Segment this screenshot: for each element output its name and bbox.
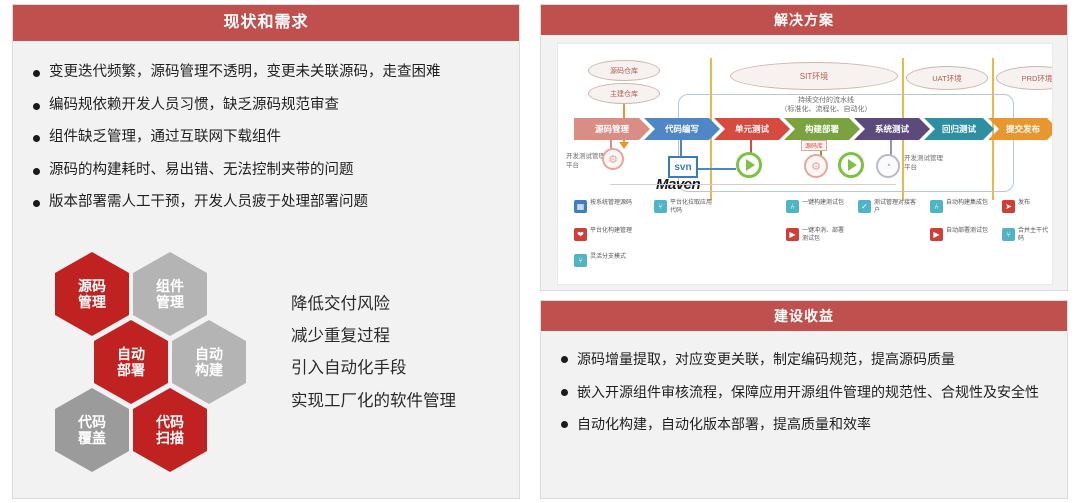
hexagon-auto-deploy: 自动 部署	[94, 320, 168, 404]
bullet-dot-icon	[561, 389, 568, 396]
svn-logo-icon: svn	[668, 156, 698, 178]
ellipse-sit-environment: SIT环境	[730, 62, 898, 90]
gear-icon-build: ⚙	[804, 154, 828, 178]
legend-label: 一键冲消、部署测试包	[802, 228, 846, 244]
cicd-pipeline-diagram: 源码仓库 主建仓库 SIT环境 UAT环境 PRD环境 持续交付的流水线 （标准…	[557, 43, 1053, 285]
stage-system-test[interactable]: 系统测试	[854, 118, 930, 140]
list-item: 组件缺乏管理，通过互联网下载组件	[29, 128, 501, 148]
bullet-text: 自动化构建，自动化版本部署，提高质量和效率	[577, 414, 871, 436]
hexagon-code-coverage: 代码 覆盖	[55, 388, 129, 472]
package-icon: ⑃	[786, 200, 799, 213]
hexagon-label-line2: 扫描	[156, 430, 184, 446]
hexagon-code-scan: 代码 扫描	[133, 388, 207, 472]
legend-item: ⑂ 合并主干代码	[1002, 228, 1052, 244]
legend-item: ⑂ 平台化拉取应用代码	[654, 200, 714, 216]
bullet-text: 变更迭代频繁，源码管理不透明，变更未关联源码，走查困难	[49, 63, 441, 83]
legend-label: 自动构建集成包	[946, 200, 988, 208]
bullet-dot-icon	[33, 168, 40, 175]
legend-label: 自动部署测试包	[946, 228, 988, 236]
hexagon-label-line2: 管理	[156, 294, 184, 310]
bullet-text: 源码的构建耗时、易出错、无法控制夹带的问题	[49, 161, 354, 181]
capability-hexagon-cluster: 源码 管理 组件 管理 自动 部署 自动 构建 代码 覆盖 代码 扫描	[33, 248, 283, 493]
play-button-build-deploy-icon	[838, 152, 864, 178]
legend-item: ⑃ 自动构建集成包	[930, 200, 988, 213]
legend-label: 发布	[1018, 200, 1030, 208]
hexagon-label-line1: 代码	[156, 414, 184, 430]
legend-item: ➤ 发布	[1002, 200, 1030, 213]
hexagon-label-line2: 构建	[195, 362, 223, 378]
ellipse-build-repository: 主建仓库	[588, 83, 660, 104]
play-icon: ▶	[930, 228, 943, 241]
legend-item: ✓ 测试管理对接客户	[858, 200, 918, 216]
list-item: 源码的构建耗时、易出错、无法控制夹带的问题	[29, 161, 501, 181]
play-button-unit-test-icon	[736, 152, 762, 178]
legend-label: 灵活分支模式	[590, 254, 626, 262]
list-item: 编码规依赖开发人员习惯，缺乏源码规范审查	[29, 96, 501, 116]
branch-icon: ⑂	[1002, 228, 1015, 241]
play-triangle-icon	[746, 159, 755, 171]
legend-item: ⑃ 一键构建测试包	[786, 200, 844, 213]
bullet-text: 版本部署需人工干预，开发人员疲于处理部署问题	[49, 193, 368, 213]
gear-icon: ⚙	[602, 148, 624, 170]
list-item: 源码增量提取，对应变更关联，制定编码规范，提高源码质量	[557, 349, 1045, 371]
ellipse-prd-environment: PRD环境	[996, 66, 1053, 90]
benefit-bullet-list: 源码增量提取，对应变更关联，制定编码规范，提高源码质量 嵌入开源组件审核流程，保…	[541, 331, 1067, 436]
hexagon-label-line2: 覆盖	[78, 430, 106, 446]
hexagon-label-line2: 管理	[78, 294, 106, 310]
panel-benefit: 建设收益 源码增量提取，对应变更关联，制定编码规范，提高源码质量 嵌入开源组件审…	[540, 300, 1068, 499]
package-icon: ⑃	[930, 200, 943, 213]
bullet-dot-icon	[33, 135, 40, 142]
goal-item: 减少重复过程	[291, 320, 456, 352]
bullet-text: 源码增量提取，对应变更关联，制定编码规范，提高源码质量	[577, 349, 955, 371]
hexagon-auto-build: 自动 构建	[172, 320, 246, 404]
stage-source-management[interactable]: 源码管理	[574, 118, 650, 140]
hexagon-source-code-management: 源码 管理	[55, 252, 129, 336]
bullet-text: 嵌入开源组件审核流程，保障应用开源组件管理的规范性、合规性及安全性	[577, 382, 1039, 404]
stage-build-deploy[interactable]: 构建部署	[784, 118, 860, 140]
legend-item: ▶ 自动部署测试包	[930, 228, 988, 241]
hexagon-label-line1: 自动	[117, 346, 145, 362]
bullet-text: 编码规依赖开发人员习惯，缺乏源码规范审查	[49, 96, 339, 116]
bullet-text: 组件缺乏管理，通过互联网下载组件	[49, 128, 281, 148]
heart-icon: ❤	[574, 228, 587, 241]
panel-current-status-title: 现状和需求	[13, 5, 519, 41]
hexagon-component-management: 组件 管理	[133, 252, 207, 336]
panel-current-status: 现状和需求 变更迭代频繁，源码管理不透明，变更未关联源码，走查困难 编码规依赖开…	[12, 4, 520, 499]
goal-list: 降低交付风险 减少重复过程 引入自动化手段 实现工厂化的软件管理	[291, 288, 456, 417]
connector-feedback-loop	[610, 184, 896, 185]
bullet-dot-icon	[33, 103, 40, 110]
hexagon-label-line1: 自动	[195, 346, 223, 362]
list-item: 自动化构建，自动化版本部署，提高质量和效率	[557, 414, 1045, 436]
branch-icon: ⑂	[654, 200, 667, 213]
goal-item: 实现工厂化的软件管理	[291, 385, 456, 417]
bullet-dot-icon	[33, 70, 40, 77]
list-item: 嵌入开源组件审核流程，保障应用开源组件管理的规范性、合规性及安全性	[557, 382, 1045, 404]
pipeline-caption: 持续交付的流水线 （标准化、流程化、自动化）	[756, 96, 896, 115]
legend-item: ▶ 一键冲消、部署测试包	[786, 228, 846, 244]
pipeline-caption-line2: （标准化、流程化、自动化）	[756, 105, 896, 114]
legend-label: 按系统管理源码	[590, 200, 632, 208]
goal-item: 降低交付风险	[291, 288, 456, 320]
label-dev-test-platform-right: 开发测试管理平台	[904, 154, 946, 172]
panel-solution: 解决方案 源码仓库 主建仓库 SIT环境 UAT环境 PRD环境 持续交付的流水…	[540, 4, 1068, 291]
legend-item: ▦ 按系统管理源码	[574, 200, 632, 213]
play-icon: ▶	[786, 228, 799, 241]
label-dev-test-platform-left: 开发测试管理平台	[566, 152, 606, 170]
stage-code-writing[interactable]: 代码编写	[644, 118, 720, 140]
bullet-dot-icon	[561, 421, 568, 428]
current-status-bullet-list: 变更迭代频繁，源码管理不透明，变更未关联源码，走查困难 编码规依赖开发人员习惯，…	[13, 41, 519, 213]
arrow-head-icon	[619, 142, 629, 149]
slide-root: 现状和需求 变更迭代频繁，源码管理不透明，变更未关联源码，走查困难 编码规依赖开…	[0, 0, 1080, 503]
goal-item: 引入自动化手段	[291, 352, 456, 384]
play-triangle-icon	[848, 159, 857, 171]
legend-label: 合并主干代码	[1018, 228, 1052, 244]
legend-item: ❤ 平台化构建管理	[574, 228, 632, 241]
bullet-dot-icon	[33, 200, 40, 207]
hexagon-label-line1: 源码	[78, 278, 106, 294]
legend-label: 测试管理对接客户	[874, 200, 918, 216]
branch-icon: ⑂	[574, 254, 587, 267]
panel-benefit-title: 建设收益	[541, 301, 1067, 331]
hexagon-label-line1: 代码	[78, 414, 106, 430]
grid-icon: ▦	[574, 200, 587, 213]
stage-unit-test[interactable]: 单元测试	[714, 118, 790, 140]
ellipse-source-repository: 源码仓库	[588, 60, 660, 81]
hexagon-label-line1: 组件	[156, 278, 184, 294]
check-icon: ✓	[858, 200, 871, 213]
gauge-icon: ◔	[876, 154, 900, 178]
list-item: 变更迭代频繁，源码管理不透明，变更未关联源码，走查困难	[29, 63, 501, 83]
send-icon: ➤	[1002, 200, 1015, 213]
legend-item: ⑂ 灵活分支模式	[574, 254, 626, 267]
list-item: 版本部署需人工干预，开发人员疲于处理部署问题	[29, 193, 501, 213]
legend-label: 平台化构建管理	[590, 228, 632, 236]
legend-label: 一键构建测试包	[802, 200, 844, 208]
connector-maven-to-unit-test	[698, 168, 736, 170]
label-component-library: 源码库	[801, 140, 827, 151]
legend-label: 平台化拉取应用代码	[670, 200, 714, 216]
panel-solution-title: 解决方案	[541, 5, 1067, 35]
hexagon-label-line2: 部署	[117, 362, 145, 378]
bullet-dot-icon	[561, 356, 568, 363]
pipeline-caption-line1: 持续交付的流水线	[756, 96, 896, 105]
ellipse-uat-environment: UAT环境	[906, 66, 988, 90]
